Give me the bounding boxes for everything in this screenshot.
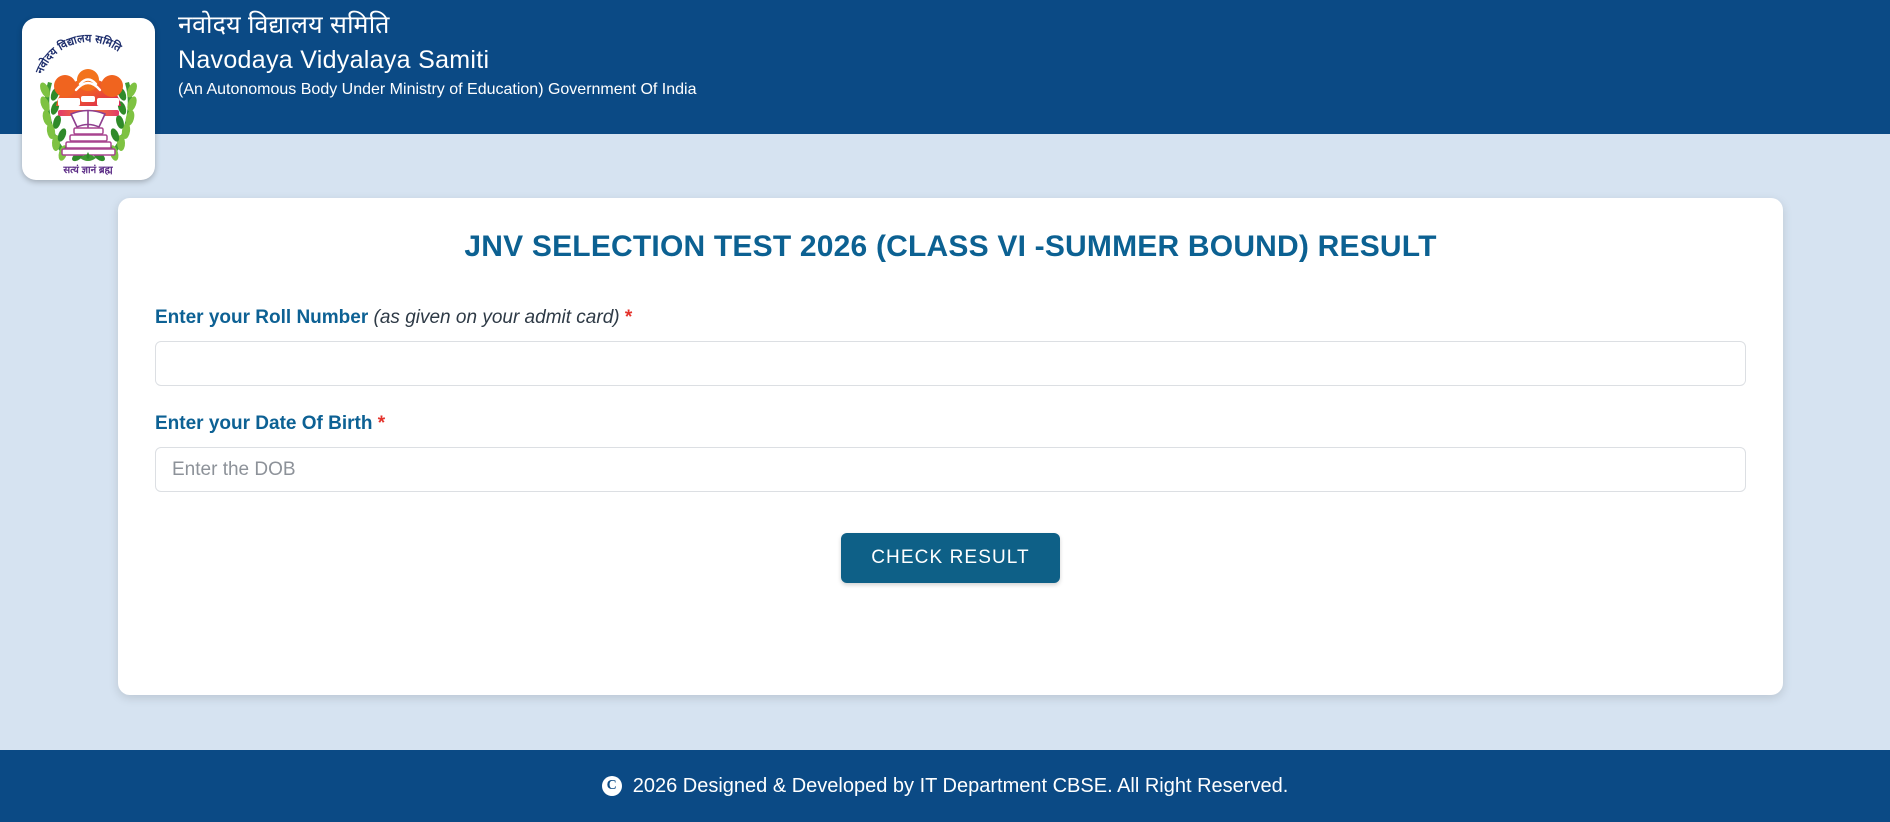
- page-title: JNV SELECTION TEST 2026 (CLASS VI -SUMME…: [118, 230, 1783, 264]
- site-footer: C 2026 Designed & Developed by IT Depart…: [0, 750, 1890, 822]
- roll-number-hint: (as given on your admit card): [374, 307, 620, 328]
- submit-row: CHECK RESULT: [155, 533, 1746, 583]
- dob-required-marker: *: [378, 413, 385, 434]
- org-title-hindi: नवोदय विद्यालय समिति: [178, 8, 696, 42]
- navodaya-emblem-icon: नवोदय विद्यालय समिति: [22, 18, 155, 180]
- result-form-card: JNV SELECTION TEST 2026 (CLASS VI -SUMME…: [118, 198, 1783, 695]
- field-date-of-birth: Enter your Date Of Birth *: [155, 412, 1746, 492]
- roll-number-required-marker: *: [625, 307, 632, 328]
- dob-label: Enter your Date Of Birth *: [155, 412, 1746, 436]
- org-subtitle: (An Autonomous Body Under Ministry of Ed…: [178, 78, 696, 102]
- roll-number-input[interactable]: [155, 341, 1746, 386]
- result-form: Enter your Roll Number (as given on your…: [155, 306, 1746, 583]
- site-header: नवोदय विद्यालय समिति Navodaya Vidyalaya …: [0, 0, 1890, 134]
- dob-input[interactable]: [155, 447, 1746, 492]
- dob-label-text: Enter your Date Of Birth: [155, 413, 372, 434]
- copyright-icon: C: [602, 776, 622, 796]
- page-root: नवोदय विद्यालय समिति Navodaya Vidyalaya …: [0, 0, 1890, 822]
- roll-number-label-text: Enter your Roll Number: [155, 307, 368, 328]
- footer-text: 2026 Designed & Developed by IT Departme…: [633, 773, 1289, 799]
- roll-number-label: Enter your Roll Number (as given on your…: [155, 306, 1746, 330]
- logo-card[interactable]: नवोदय विद्यालय समिति: [22, 18, 155, 180]
- check-result-button[interactable]: CHECK RESULT: [841, 533, 1060, 583]
- org-title-english: Navodaya Vidyalaya Samiti: [178, 42, 696, 78]
- svg-text:नवोदय विद्यालय समिति: नवोदय विद्यालय समिति: [34, 33, 125, 77]
- field-roll-number: Enter your Roll Number (as given on your…: [155, 306, 1746, 386]
- logo-motto-text: सत्यं ज्ञानं ब्रह्म: [62, 164, 113, 176]
- header-titles: नवोदय विद्यालय समिति Navodaya Vidyalaya …: [178, 8, 696, 102]
